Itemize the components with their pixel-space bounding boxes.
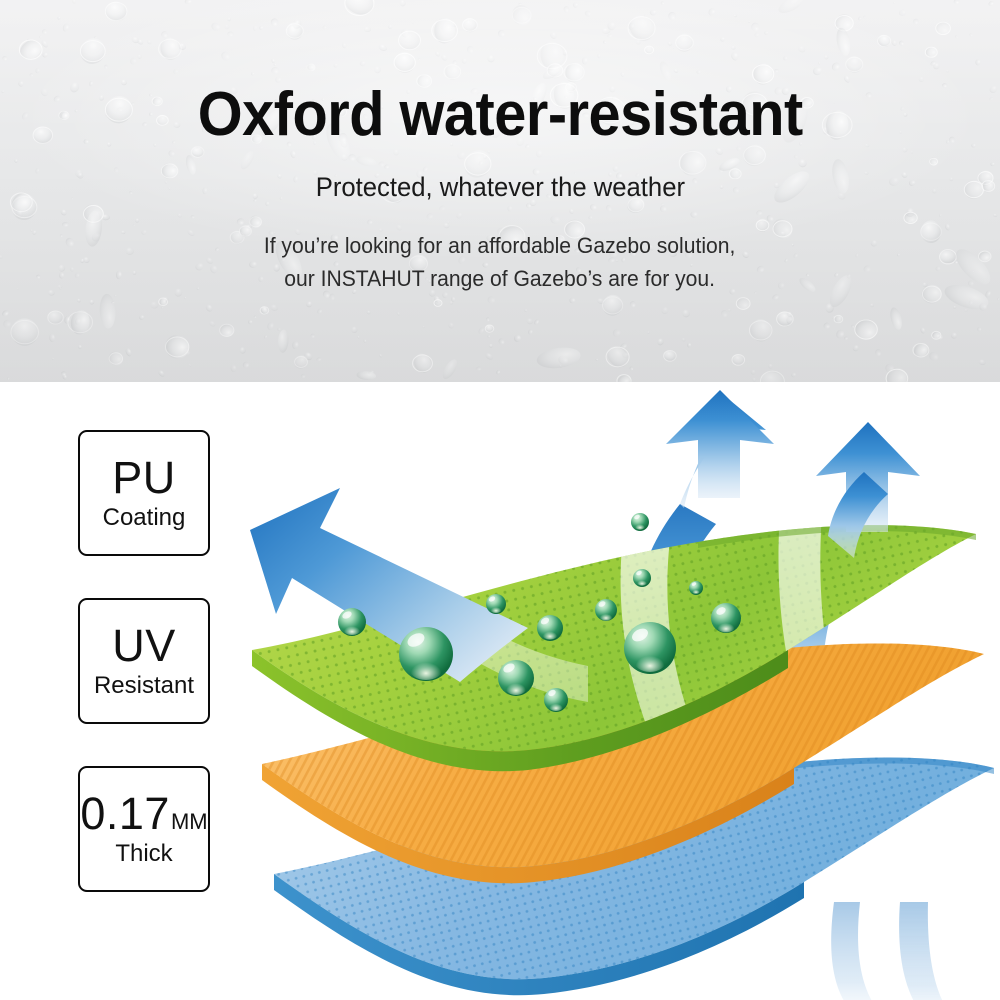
droplet [711,603,741,633]
droplet [689,581,703,595]
badge-uv-resistant-secondary: Resistant [94,673,194,699]
badge-thickness: 0.17 MM Thick [78,766,210,892]
badge-thickness-primary: 0.17 [80,791,170,836]
droplet [498,660,534,696]
droplet [338,608,366,636]
badge-pu-coating: PU Coating [78,430,210,556]
banner-subtitle: Protected, whatever the weather [315,172,684,203]
banner-description-line-2: our INSTAHUT range of Gazebo’s are for y… [264,263,736,296]
hero-banner: Oxford water-resistant Protected, whatev… [0,0,1000,382]
page-title: Oxford water-resistant [198,82,803,147]
droplet [486,594,506,614]
fabric-layers-illustration [228,382,1000,1000]
banner-description: If you’re looking for an affordable Gaze… [264,230,736,295]
badge-uv-resistant-primary: UV [112,623,176,668]
badge-uv-resistant: UV Resistant [78,598,210,724]
feature-panel: PU Coating UV Resistant 0.17 MM Thick [0,382,1000,1000]
badge-thickness-secondary: Thick [115,841,172,867]
badge-pu-coating-primary: PU [112,455,176,500]
droplet [631,513,649,531]
banner-description-line-1: If you’re looking for an affordable Gaze… [264,230,736,263]
feature-badge-list: PU Coating UV Resistant 0.17 MM Thick [78,430,210,934]
droplet [399,627,453,681]
droplet [595,599,617,621]
arrow-tail-group [831,902,988,1000]
badge-thickness-unit: MM [171,809,208,835]
badge-thickness-value-row: 0.17 MM [80,791,207,836]
droplet [544,688,568,712]
droplet [633,569,651,587]
badge-pu-coating-secondary: Coating [103,505,186,531]
droplet [624,622,676,674]
droplet [537,615,563,641]
